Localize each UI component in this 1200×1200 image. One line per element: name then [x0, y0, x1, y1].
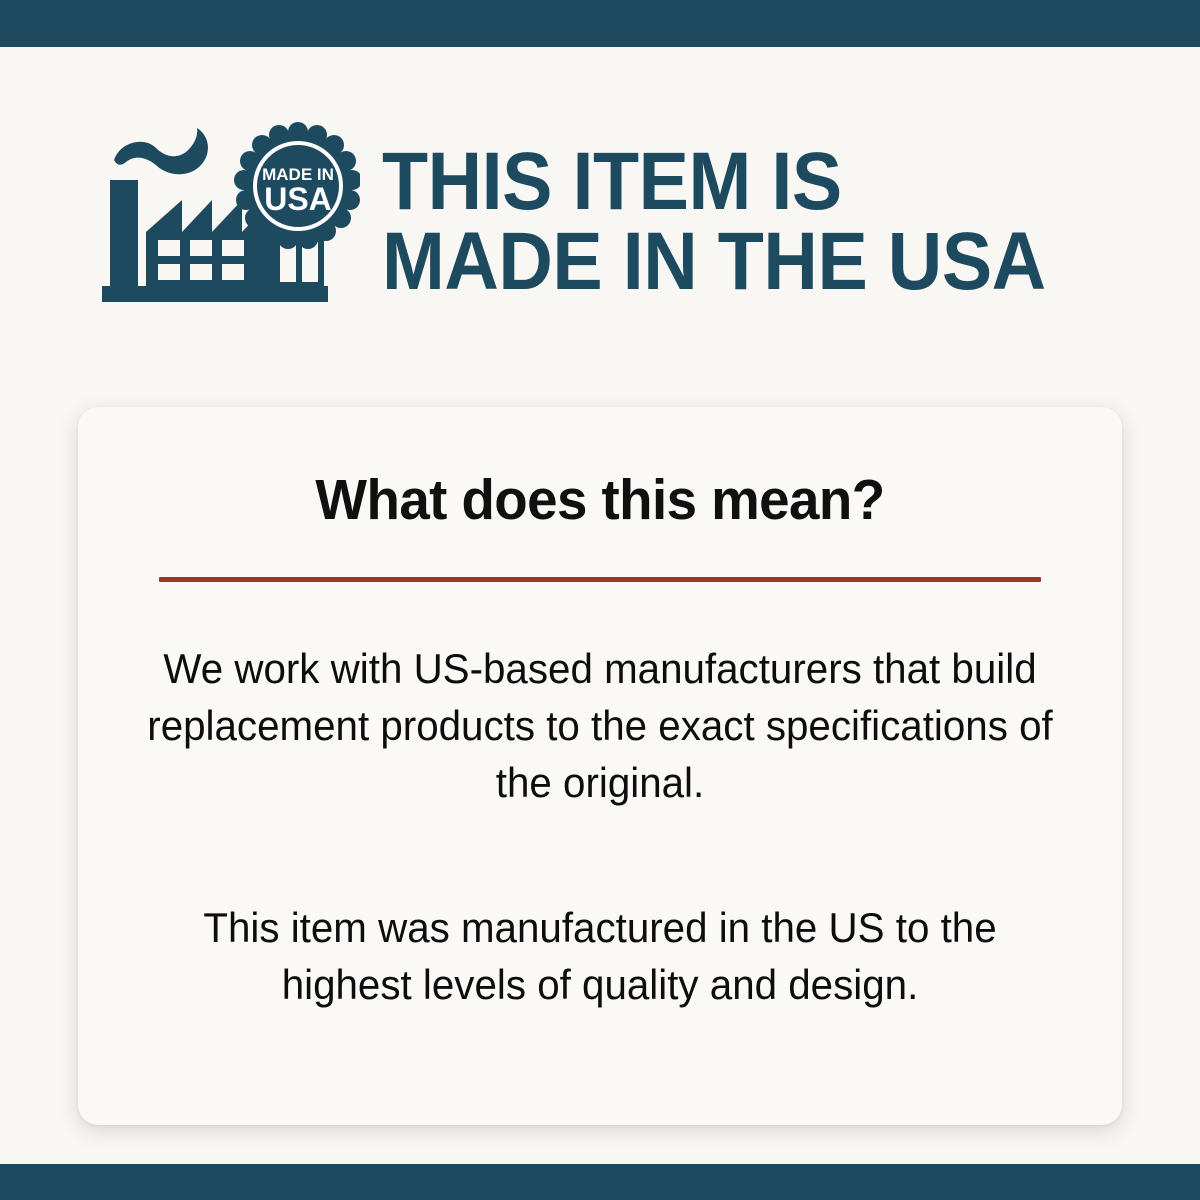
card-paragraph-1: We work with US-based manufacturers that… — [139, 640, 1061, 811]
page-canvas: MADE IN USA THIS ITEM IS MADE IN THE USA… — [0, 47, 1200, 1164]
top-accent-bar — [0, 0, 1200, 47]
bottom-accent-bar — [0, 1164, 1200, 1200]
info-card: What does this mean? We work with US-bas… — [78, 407, 1122, 1125]
card-heading: What does this mean? — [99, 407, 1101, 533]
page-title: THIS ITEM IS MADE IN THE USA — [382, 142, 1046, 303]
brand-logo: MADE IN USA — [100, 122, 360, 322]
window-icon — [158, 264, 180, 280]
window-icon — [190, 240, 212, 256]
window-icon — [190, 264, 212, 280]
chimney-icon — [110, 180, 138, 286]
smoke-icon — [114, 128, 208, 174]
window-icon — [222, 264, 244, 280]
factory-icon: MADE IN USA — [100, 122, 360, 322]
factory-base-icon — [102, 286, 328, 302]
badge-line-2: USA — [264, 181, 332, 217]
card-body: We work with US-based manufacturers that… — [78, 640, 1122, 1013]
card-paragraph-2: This item was manufactured in the US to … — [139, 899, 1061, 1013]
page-title-line-2: MADE IN THE USA — [382, 222, 1046, 302]
window-icon — [222, 240, 244, 256]
page-title-line-1: THIS ITEM IS — [382, 142, 1046, 222]
page-header: MADE IN USA THIS ITEM IS MADE IN THE USA — [0, 102, 1200, 342]
card-divider — [159, 577, 1041, 582]
window-icon — [158, 240, 180, 256]
